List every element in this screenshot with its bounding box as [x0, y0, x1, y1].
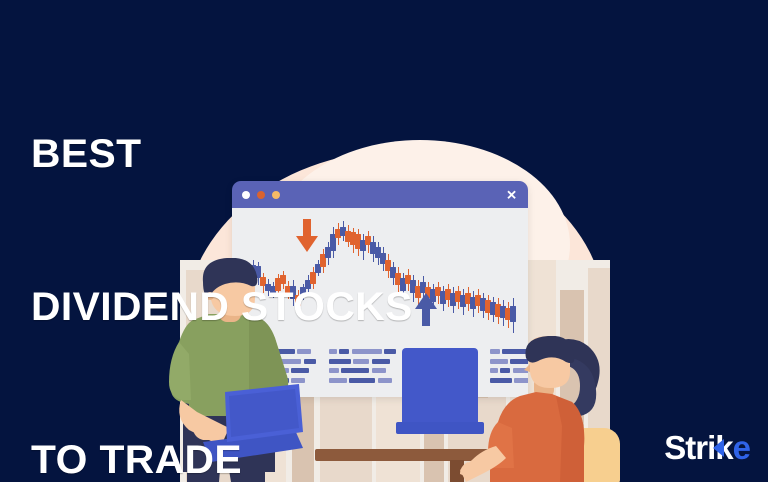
brand-logo-stri: Stri — [664, 429, 715, 466]
brand-logo-text: Strike — [664, 431, 750, 464]
woman-at-laptop — [460, 336, 620, 482]
page-title-line-3: TO TRADE — [31, 435, 413, 482]
page-title: BEST DIVIDEND STOCKS TO TRADE — [31, 27, 413, 482]
chevron-left-icon — [713, 439, 724, 457]
poster-canvas: ✕ — [0, 0, 768, 482]
page-title-line-2: DIVIDEND STOCKS — [31, 282, 413, 333]
brand-logo[interactable]: Strike — [664, 431, 750, 464]
right-gutter — [650, 0, 768, 482]
close-icon[interactable]: ✕ — [506, 188, 517, 201]
candlestick-body — [510, 306, 516, 323]
page-title-line-1: BEST — [31, 129, 413, 180]
brand-logo-e: e — [733, 429, 750, 466]
arrow-up-annotation — [413, 292, 439, 326]
